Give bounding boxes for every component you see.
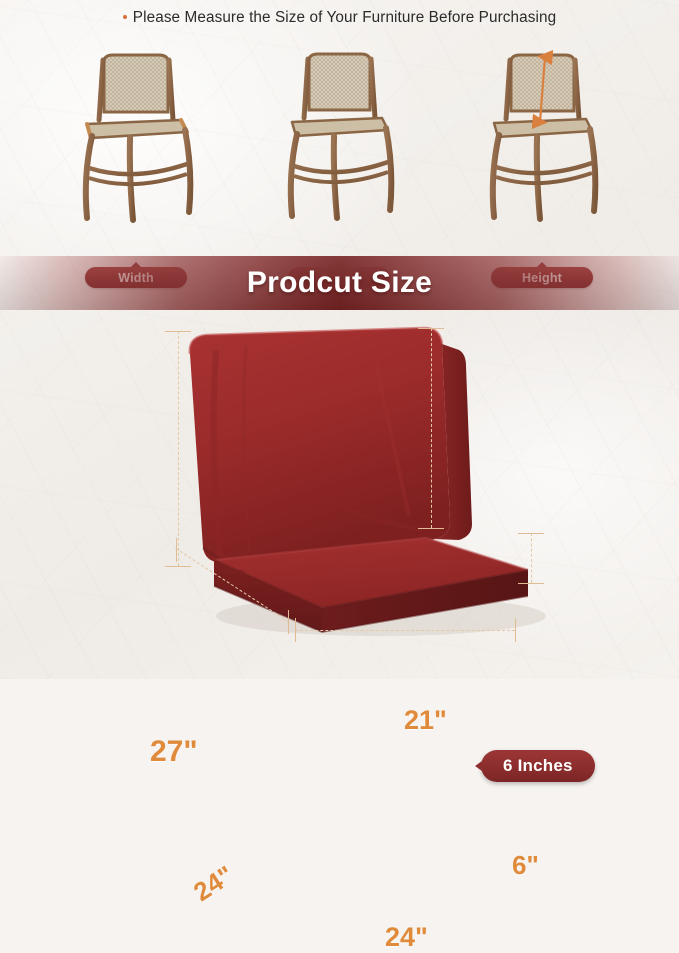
guide-cap-27-top	[165, 331, 191, 332]
chair-card-height: Height	[429, 46, 655, 246]
section-banner: Prodcut Size	[0, 256, 679, 310]
chair-illustration-width	[61, 48, 211, 226]
guide-line-height-27	[178, 331, 179, 566]
chair-illustration-depth	[264, 48, 414, 226]
dimension-label-back-21: 21"	[404, 705, 447, 736]
guide-cap-24d-bottom	[288, 610, 289, 634]
infographic-page: Please Measure the Size of Your Furnitur…	[0, 0, 679, 679]
guide-cap-6-bottom	[518, 583, 544, 584]
chair-card-width: Width	[23, 46, 249, 246]
headline-text: Please Measure the Size of Your Furnitur…	[133, 9, 556, 26]
cushion-illustration	[176, 324, 556, 654]
guide-line-back-21	[431, 328, 432, 528]
chair-illustration-height	[467, 48, 617, 226]
banner-title: Prodcut Size	[247, 266, 432, 300]
dimension-label-height-27: 27"	[150, 735, 198, 769]
guide-cap-21-bottom	[418, 528, 444, 529]
guide-cap-24b-right	[515, 618, 516, 642]
dimension-label-width-24: 24"	[385, 922, 428, 953]
bullet-dot-icon	[123, 15, 127, 19]
guide-cap-24d-top	[176, 538, 177, 562]
cushion-tag	[228, 570, 244, 574]
product-dimension-diagram: 27" 21" 6" 24" 24" 6 Inches	[0, 310, 679, 679]
dimension-label-thickness-6: 6"	[512, 850, 539, 881]
guide-cap-21-top	[418, 328, 444, 329]
headline: Please Measure the Size of Your Furnitur…	[0, 9, 679, 27]
dimension-label-depth-24: 24"	[188, 860, 239, 908]
thickness-badge: 6 Inches	[481, 750, 595, 782]
chair-measure-row: Width	[0, 46, 679, 246]
guide-cap-24b-left	[295, 618, 296, 642]
chair-card-depth: Depth	[226, 46, 452, 246]
guide-cap-27-bottom	[165, 566, 191, 567]
guide-cap-6-top	[518, 533, 544, 534]
guide-line-width-24	[295, 630, 515, 631]
guide-line-thickness-6	[531, 533, 532, 583]
